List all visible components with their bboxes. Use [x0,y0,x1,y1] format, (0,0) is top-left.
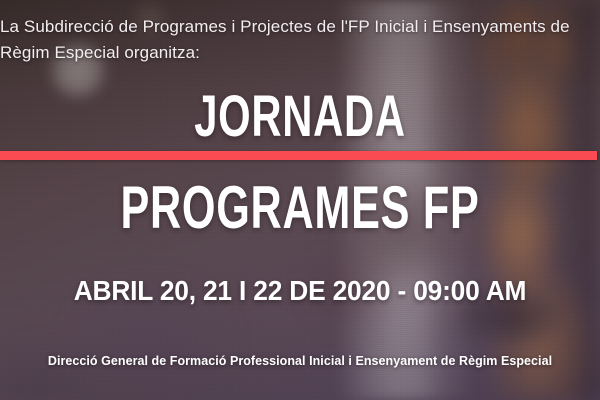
poster-intro-text: La Subdirecció de Programes i Projectes … [0,14,600,66]
poster-title-line-2: PROGRAMES FP [84,178,516,238]
accent-divider-rule [0,151,597,160]
poster-datetime: ABRIL 20, 21 I 22 DE 2020 - 09:00 AM [18,276,582,306]
poster-content: La Subdirecció de Programes i Projectes … [0,0,600,400]
poster-title-line-1: JORNADA [84,88,516,146]
poster-footer-organization: Direcció General de Formació Professiona… [0,353,600,369]
event-poster: La Subdirecció de Programes i Projectes … [0,0,600,400]
